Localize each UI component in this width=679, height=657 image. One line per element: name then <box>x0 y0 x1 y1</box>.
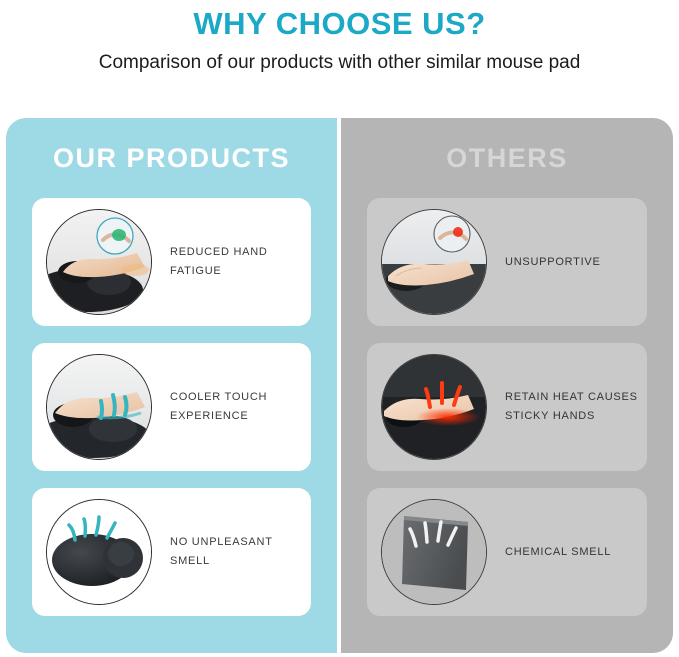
card-label: COOLER TOUCH EXPERIENCE <box>152 388 311 426</box>
hand-on-flat-pad-photo <box>381 209 487 315</box>
flat-gray-pad-photo <box>381 499 487 605</box>
page-title: WHY CHOOSE US? <box>0 4 679 44</box>
hand-with-cool-airflow-photo <box>46 354 152 460</box>
card-label: UNSUPPORTIVE <box>487 253 609 272</box>
card-unsupportive[interactable]: UNSUPPORTIVE <box>367 198 647 326</box>
card-label: REDUCED HAND FATIGUE <box>152 243 311 281</box>
card-chemical-smell[interactable]: CHEMICAL SMELL <box>367 488 647 616</box>
black-gel-mouse-pad-photo <box>46 499 152 605</box>
column-header-our-products: OUR PRODUCTS <box>6 118 337 198</box>
comparison-board: OUR PRODUCTS <box>6 118 673 653</box>
page-header: WHY CHOOSE US? Comparison of our product… <box>0 0 679 75</box>
card-list-our-products: REDUCED HAND FATIGUE <box>6 198 337 616</box>
column-our-products: OUR PRODUCTS <box>6 118 337 653</box>
card-list-others: UNSUPPORTIVE <box>341 198 673 616</box>
card-no-unpleasant-smell[interactable]: NO UNPLEASANT SMELL <box>32 488 311 616</box>
page-subtitle: Comparison of our products with other si… <box>0 51 679 75</box>
card-label: RETAIN HEAT CAUSES STICKY HANDS <box>487 388 647 426</box>
column-others: OTHERS <box>341 118 673 653</box>
column-header-others: OTHERS <box>341 118 673 198</box>
card-retain-heat-sticky-hands[interactable]: RETAIN HEAT CAUSES STICKY HANDS <box>367 343 647 471</box>
hand-with-heat-glow-photo <box>381 354 487 460</box>
card-cooler-touch-experience[interactable]: COOLER TOUCH EXPERIENCE <box>32 343 311 471</box>
card-label: CHEMICAL SMELL <box>487 543 619 562</box>
card-label: NO UNPLEASANT SMELL <box>152 533 311 571</box>
card-reduced-hand-fatigue[interactable]: REDUCED HAND FATIGUE <box>32 198 311 326</box>
hand-on-gel-wrist-rest-photo <box>46 209 152 315</box>
